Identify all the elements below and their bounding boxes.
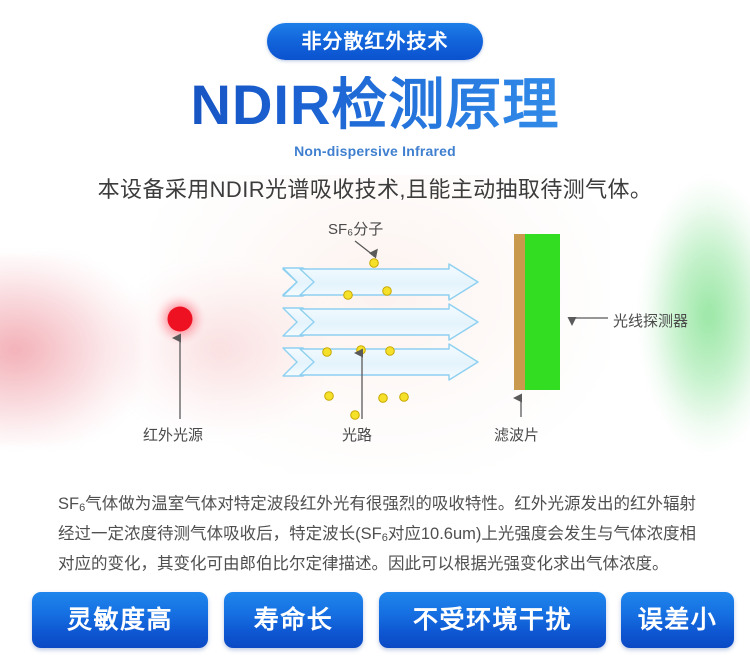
ndir-principle-diagram: SF₆分子 红外光源 光路 滤波片 光线探测器 — [0, 212, 750, 452]
feature-button-label: 误差小 — [638, 608, 718, 633]
light-detector-strip — [525, 234, 560, 390]
paragraph-sf-prefix: SF — [58, 495, 79, 513]
page-root: 非分散红外技术 NDIR检测原理 Non-dispersive Infrared… — [0, 0, 750, 669]
feature-button-label: 灵敏度高 — [67, 608, 173, 633]
infrared-source-label: 红外光源 — [143, 424, 203, 445]
light-beam-arrow-2 — [283, 304, 478, 340]
lead-description: 本设备采用NDIR光谱吸收技术,且能主动抽取待测气体。 — [0, 172, 750, 204]
optical-filter-strip — [514, 234, 525, 390]
feature-button-label: 寿命长 — [254, 608, 334, 633]
light-beam-arrow-1 — [283, 264, 478, 300]
sf6-leader-line — [355, 241, 373, 255]
sf6-molecule-label: SF₆分子 — [328, 218, 383, 239]
feature-button-row: 灵敏度高 寿命长 不受环境干扰 误差小 — [0, 592, 750, 650]
light-path-label: 光路 — [342, 424, 372, 445]
feature-button-sensitivity[interactable]: 灵敏度高 — [32, 592, 208, 648]
feature-button-label: 不受环境干扰 — [413, 608, 572, 633]
section-badge: 非分散红外技术 — [267, 23, 483, 60]
page-title: NDIR检测原理 — [0, 76, 750, 134]
optical-filter-label: 滤波片 — [494, 424, 539, 445]
feature-button-interference[interactable]: 不受环境干扰 — [379, 592, 606, 648]
light-detector-label: 光线探测器 — [613, 310, 688, 331]
principle-paragraph: SF6气体做为温室气体对特定波段红外光有很强烈的吸收特性。红外光源发出的红外辐射… — [58, 491, 696, 577]
feature-button-lifespan[interactable]: 寿命长 — [224, 592, 363, 648]
page-subtitle-english: Non-dispersive Infrared — [0, 143, 750, 159]
light-beam-arrow-3 — [283, 344, 478, 380]
feature-button-error[interactable]: 误差小 — [621, 592, 734, 648]
section-badge-label: 非分散红外技术 — [302, 32, 449, 52]
